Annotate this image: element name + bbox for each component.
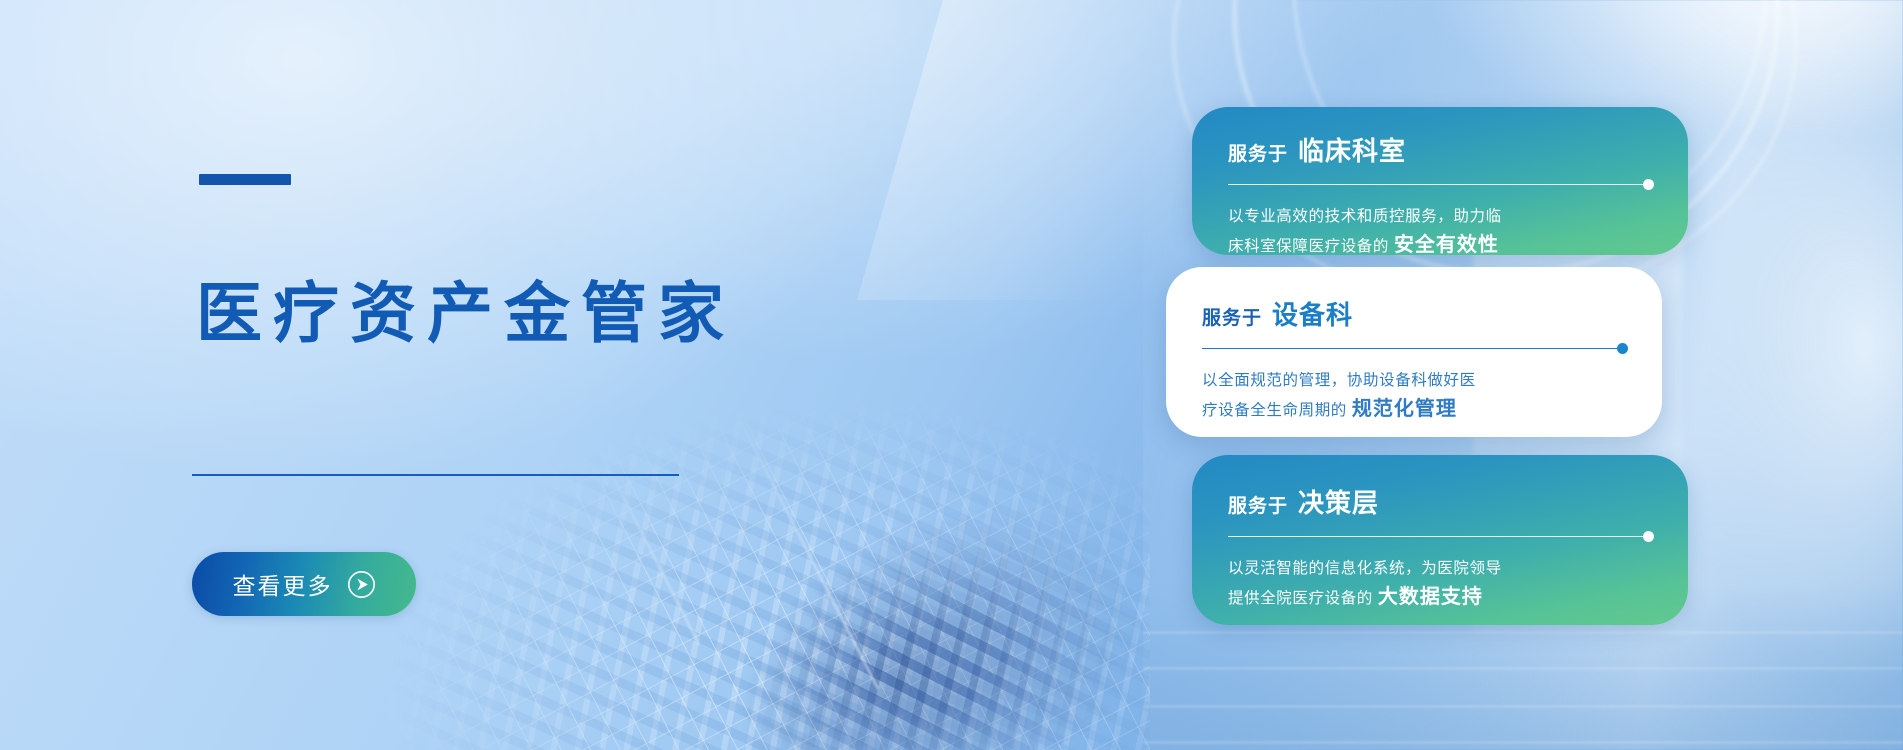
card-body-lead: 床科室保障医疗设备的 bbox=[1228, 238, 1389, 255]
card-divider bbox=[1228, 531, 1652, 542]
card-body-line2: 床科室保障医疗设备的 安全有效性 bbox=[1228, 231, 1652, 261]
card-body-highlight: 规范化管理 bbox=[1352, 398, 1457, 420]
hero-banner: 医疗资产金管家 查看更多 服务于 临床科室 以专业高效的技术 bbox=[0, 0, 1903, 750]
card-prefix: 服务于 bbox=[1228, 491, 1288, 518]
card-divider bbox=[1202, 343, 1626, 354]
card-body: 以全面规范的管理，协助设备科做好医 疗设备全生命周期的 规范化管理 bbox=[1202, 367, 1626, 425]
card-title: 服务于 决策层 bbox=[1228, 483, 1652, 520]
service-card-decision[interactable]: 服务于 决策层 以灵活智能的信息化系统，为医院领导 提供全院医疗设备的 大数据支… bbox=[1192, 455, 1688, 625]
divider-end-dot bbox=[1643, 531, 1654, 542]
card-body: 以专业高效的技术和质控服务，助力临 床科室保障医疗设备的 安全有效性 bbox=[1228, 203, 1652, 261]
card-department: 设备科 bbox=[1272, 295, 1353, 332]
card-prefix: 服务于 bbox=[1228, 139, 1288, 166]
card-body-highlight: 安全有效性 bbox=[1394, 234, 1499, 256]
divider-bar bbox=[1228, 184, 1652, 185]
service-card-list: 服务于 临床科室 以专业高效的技术和质控服务，助力临 床科室保障医疗设备的 安全… bbox=[0, 0, 1903, 750]
card-body-lead: 疗设备全生命周期的 bbox=[1202, 402, 1347, 419]
card-prefix: 服务于 bbox=[1202, 303, 1262, 330]
card-body-line2: 疗设备全生命周期的 规范化管理 bbox=[1202, 395, 1626, 425]
card-body-highlight: 大数据支持 bbox=[1378, 586, 1483, 608]
card-body-line1: 以全面规范的管理，协助设备科做好医 bbox=[1202, 367, 1626, 395]
service-card-equipment[interactable]: 服务于 设备科 以全面规范的管理，协助设备科做好医 疗设备全生命周期的 规范化管… bbox=[1166, 267, 1662, 437]
divider-end-dot bbox=[1643, 179, 1654, 190]
card-body-line1: 以灵活智能的信息化系统，为医院领导 bbox=[1228, 555, 1652, 583]
card-body-lead: 提供全院医疗设备的 bbox=[1228, 590, 1373, 607]
divider-bar bbox=[1228, 536, 1652, 537]
card-divider bbox=[1228, 179, 1652, 190]
card-department: 决策层 bbox=[1298, 483, 1379, 520]
card-body-line2: 提供全院医疗设备的 大数据支持 bbox=[1228, 583, 1652, 613]
card-body-line1: 以专业高效的技术和质控服务，助力临 bbox=[1228, 203, 1652, 231]
card-title: 服务于 设备科 bbox=[1202, 295, 1626, 332]
card-body: 以灵活智能的信息化系统，为医院领导 提供全院医疗设备的 大数据支持 bbox=[1228, 555, 1652, 613]
divider-end-dot bbox=[1617, 343, 1628, 354]
service-card-clinical[interactable]: 服务于 临床科室 以专业高效的技术和质控服务，助力临 床科室保障医疗设备的 安全… bbox=[1192, 107, 1688, 255]
card-department: 临床科室 bbox=[1298, 131, 1406, 168]
card-title: 服务于 临床科室 bbox=[1228, 131, 1652, 168]
divider-bar bbox=[1202, 348, 1626, 349]
